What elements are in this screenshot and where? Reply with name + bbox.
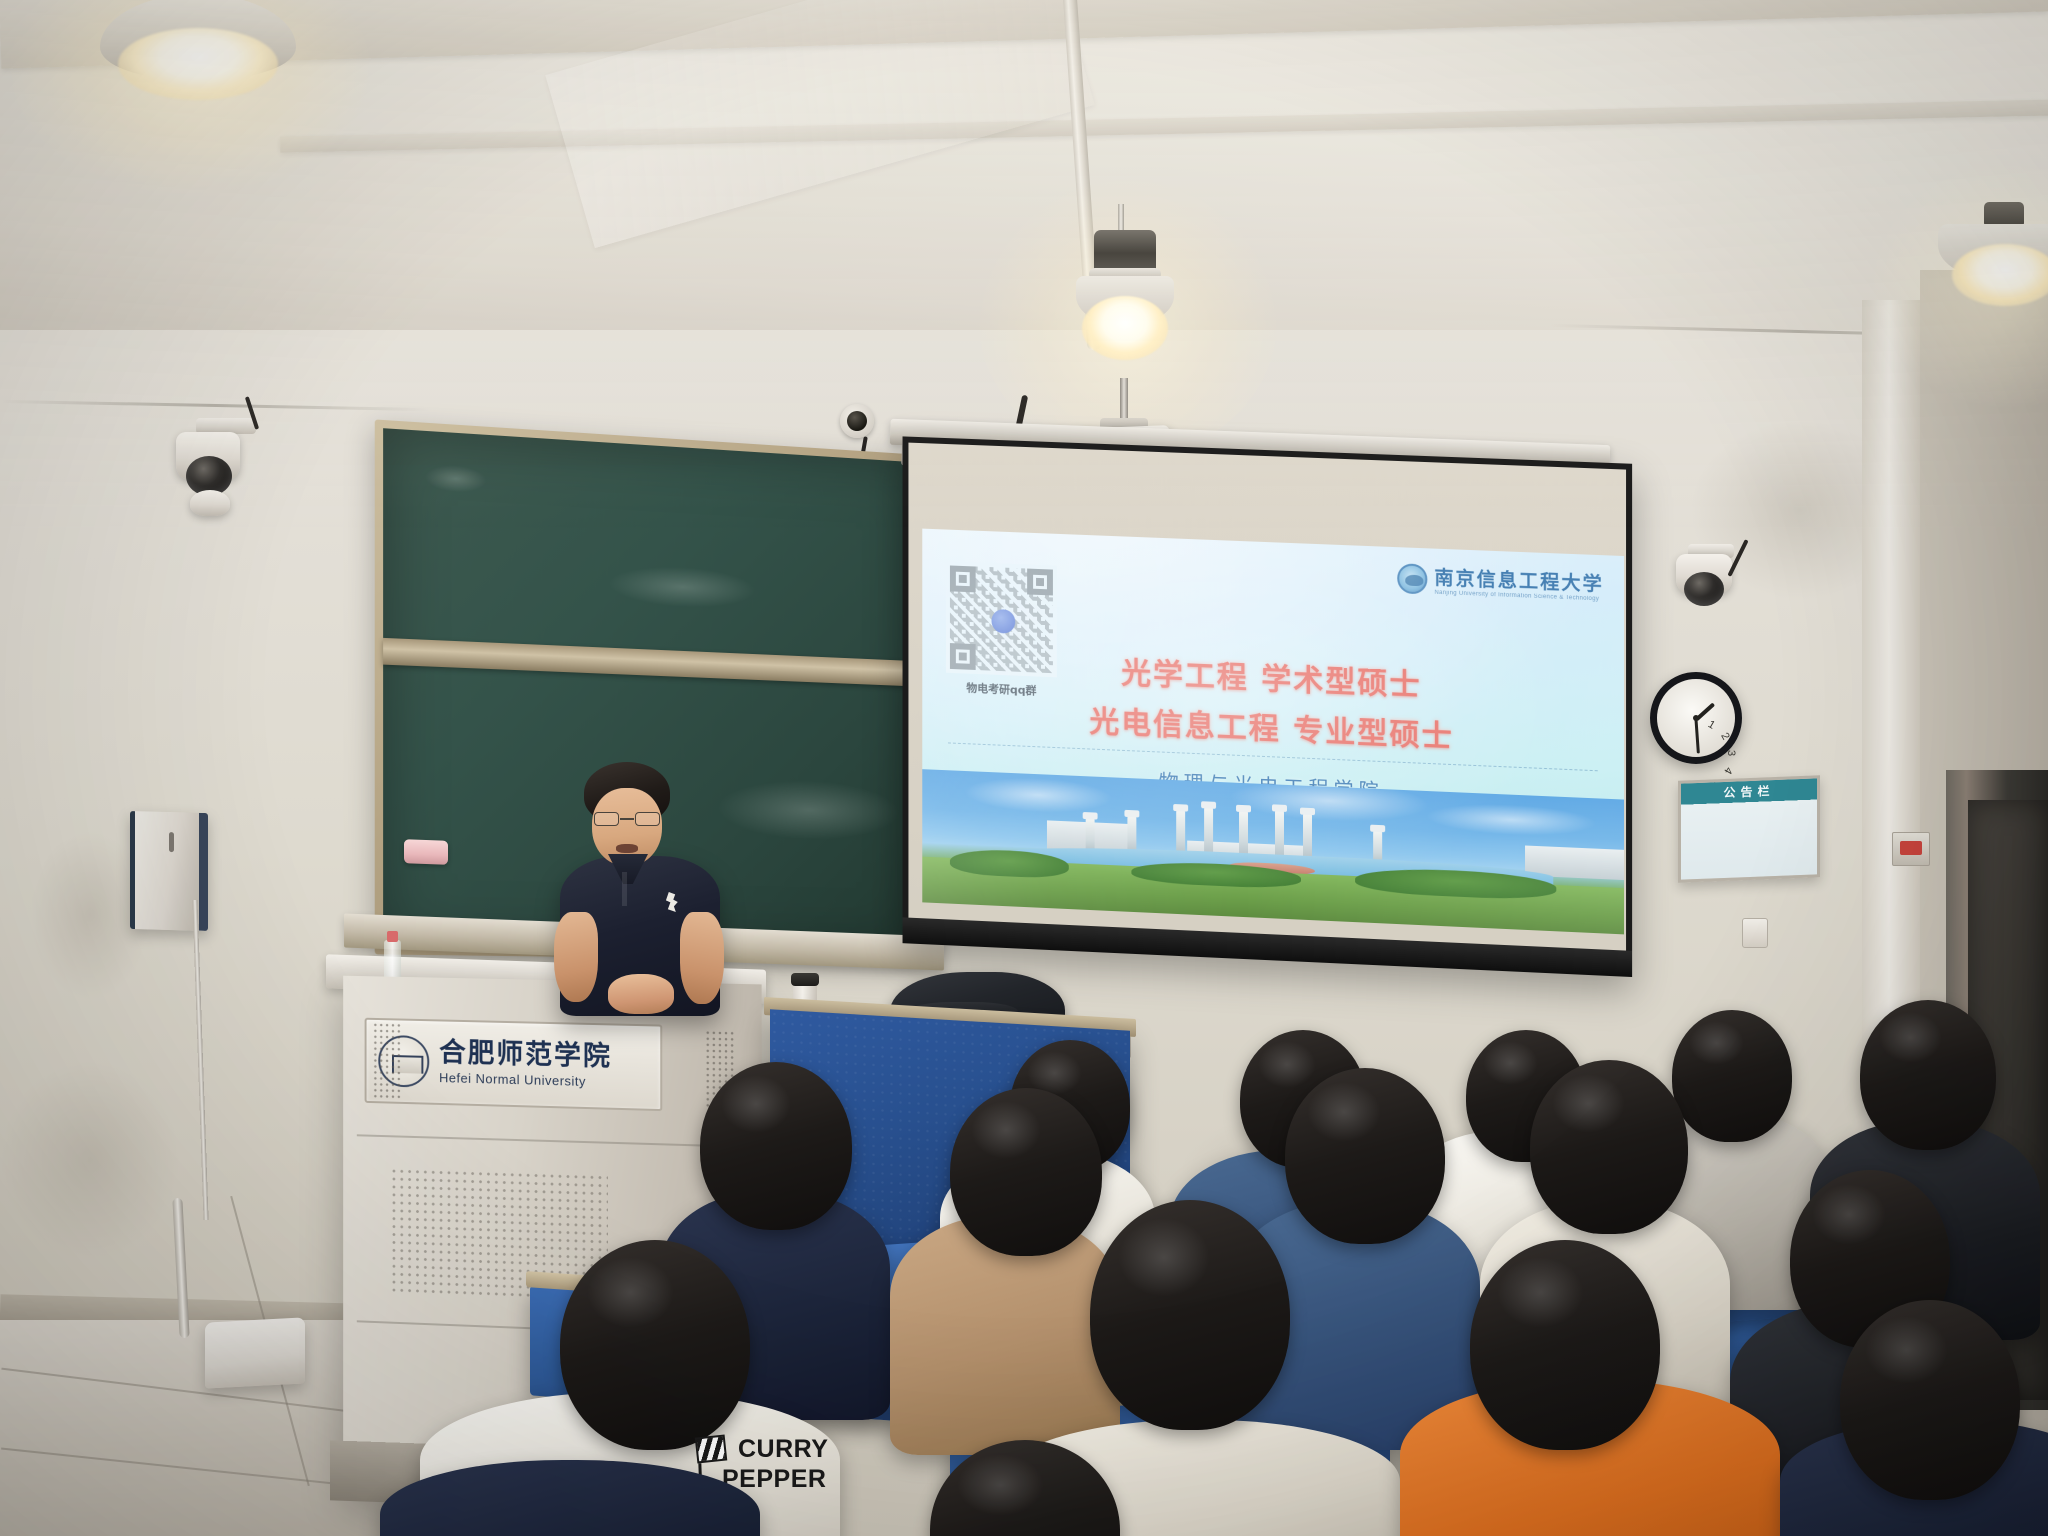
podium-name-en: Hefei Normal University bbox=[439, 1070, 612, 1090]
cloud bbox=[1426, 801, 1597, 839]
blackboard-eraser-icon[interactable] bbox=[404, 839, 448, 865]
student-head bbox=[1470, 1240, 1660, 1450]
presenter bbox=[556, 762, 724, 1012]
cloud bbox=[964, 775, 1113, 815]
screen-surface: 物电考研qq群 南京信息工程大学 Nanjing University of I… bbox=[908, 443, 1626, 951]
presenter-right-arm bbox=[680, 912, 724, 1004]
podium-panel-seam bbox=[357, 1134, 748, 1148]
podium-name-cn: 合肥师范学院 bbox=[439, 1039, 612, 1070]
wall-stain bbox=[0, 1060, 180, 1260]
camera-base bbox=[190, 490, 230, 516]
camera-lens bbox=[847, 411, 867, 431]
clock-numeral: 3 bbox=[1697, 755, 1735, 757]
presentation-slide: 物电考研qq群 南京信息工程大学 Nanjing University of I… bbox=[922, 529, 1624, 935]
classroom-presentation-scene: 物电考研qq群 南京信息工程大学 Nanjing University of I… bbox=[0, 0, 2048, 1536]
presenter-hands bbox=[608, 974, 674, 1014]
lamp-bulb bbox=[1082, 296, 1168, 360]
lamp-bulb bbox=[1952, 244, 2048, 306]
student-head bbox=[700, 1062, 852, 1230]
student-head bbox=[1840, 1300, 2020, 1500]
qr-center-logo bbox=[991, 609, 1015, 634]
presenter-placket bbox=[622, 872, 627, 906]
chalk-dust bbox=[425, 464, 487, 494]
notice-board-title: 公告栏 bbox=[1681, 780, 1817, 802]
university-crest-icon bbox=[1397, 563, 1427, 594]
chalk-dust bbox=[717, 778, 900, 842]
checkered-flag-icon bbox=[695, 1435, 728, 1464]
notice-board: 公告栏 bbox=[1678, 775, 1820, 882]
chalk-dust bbox=[608, 563, 756, 610]
lamp-bulb bbox=[118, 28, 278, 100]
shirt-text-line1: CURRY bbox=[738, 1436, 828, 1462]
qr-finder-pattern bbox=[1027, 569, 1053, 596]
clock-center-pin bbox=[1693, 715, 1699, 721]
student-head bbox=[1090, 1200, 1290, 1430]
student-head bbox=[1285, 1068, 1445, 1244]
trash-bin[interactable] bbox=[205, 1317, 305, 1388]
emergency-call-box[interactable] bbox=[1892, 832, 1930, 866]
projection-screen: 物电考研qq群 南京信息工程大学 Nanjing University of I… bbox=[903, 436, 1633, 977]
light-switch[interactable] bbox=[1742, 918, 1768, 948]
camera-dome-lens bbox=[1684, 572, 1724, 606]
qr-finder-pattern bbox=[950, 565, 976, 592]
student-head bbox=[560, 1240, 750, 1450]
presenter-mouth bbox=[616, 844, 638, 853]
clock-minute-hand bbox=[1695, 719, 1700, 753]
podium-speaker-grille bbox=[372, 1022, 401, 1100]
student-head bbox=[1672, 1010, 1792, 1142]
podium-nameplate: 合肥师范学院 Hefei Normal University bbox=[365, 1018, 663, 1111]
student-head bbox=[950, 1088, 1102, 1256]
student-head bbox=[1530, 1060, 1688, 1234]
presenter-left-arm bbox=[554, 912, 598, 1002]
wall-clock: 1 2 3 4 5 bbox=[1650, 672, 1742, 764]
lamp-cap bbox=[1094, 230, 1156, 272]
eyeglasses-icon bbox=[594, 812, 660, 827]
student-head bbox=[1860, 1000, 1996, 1150]
